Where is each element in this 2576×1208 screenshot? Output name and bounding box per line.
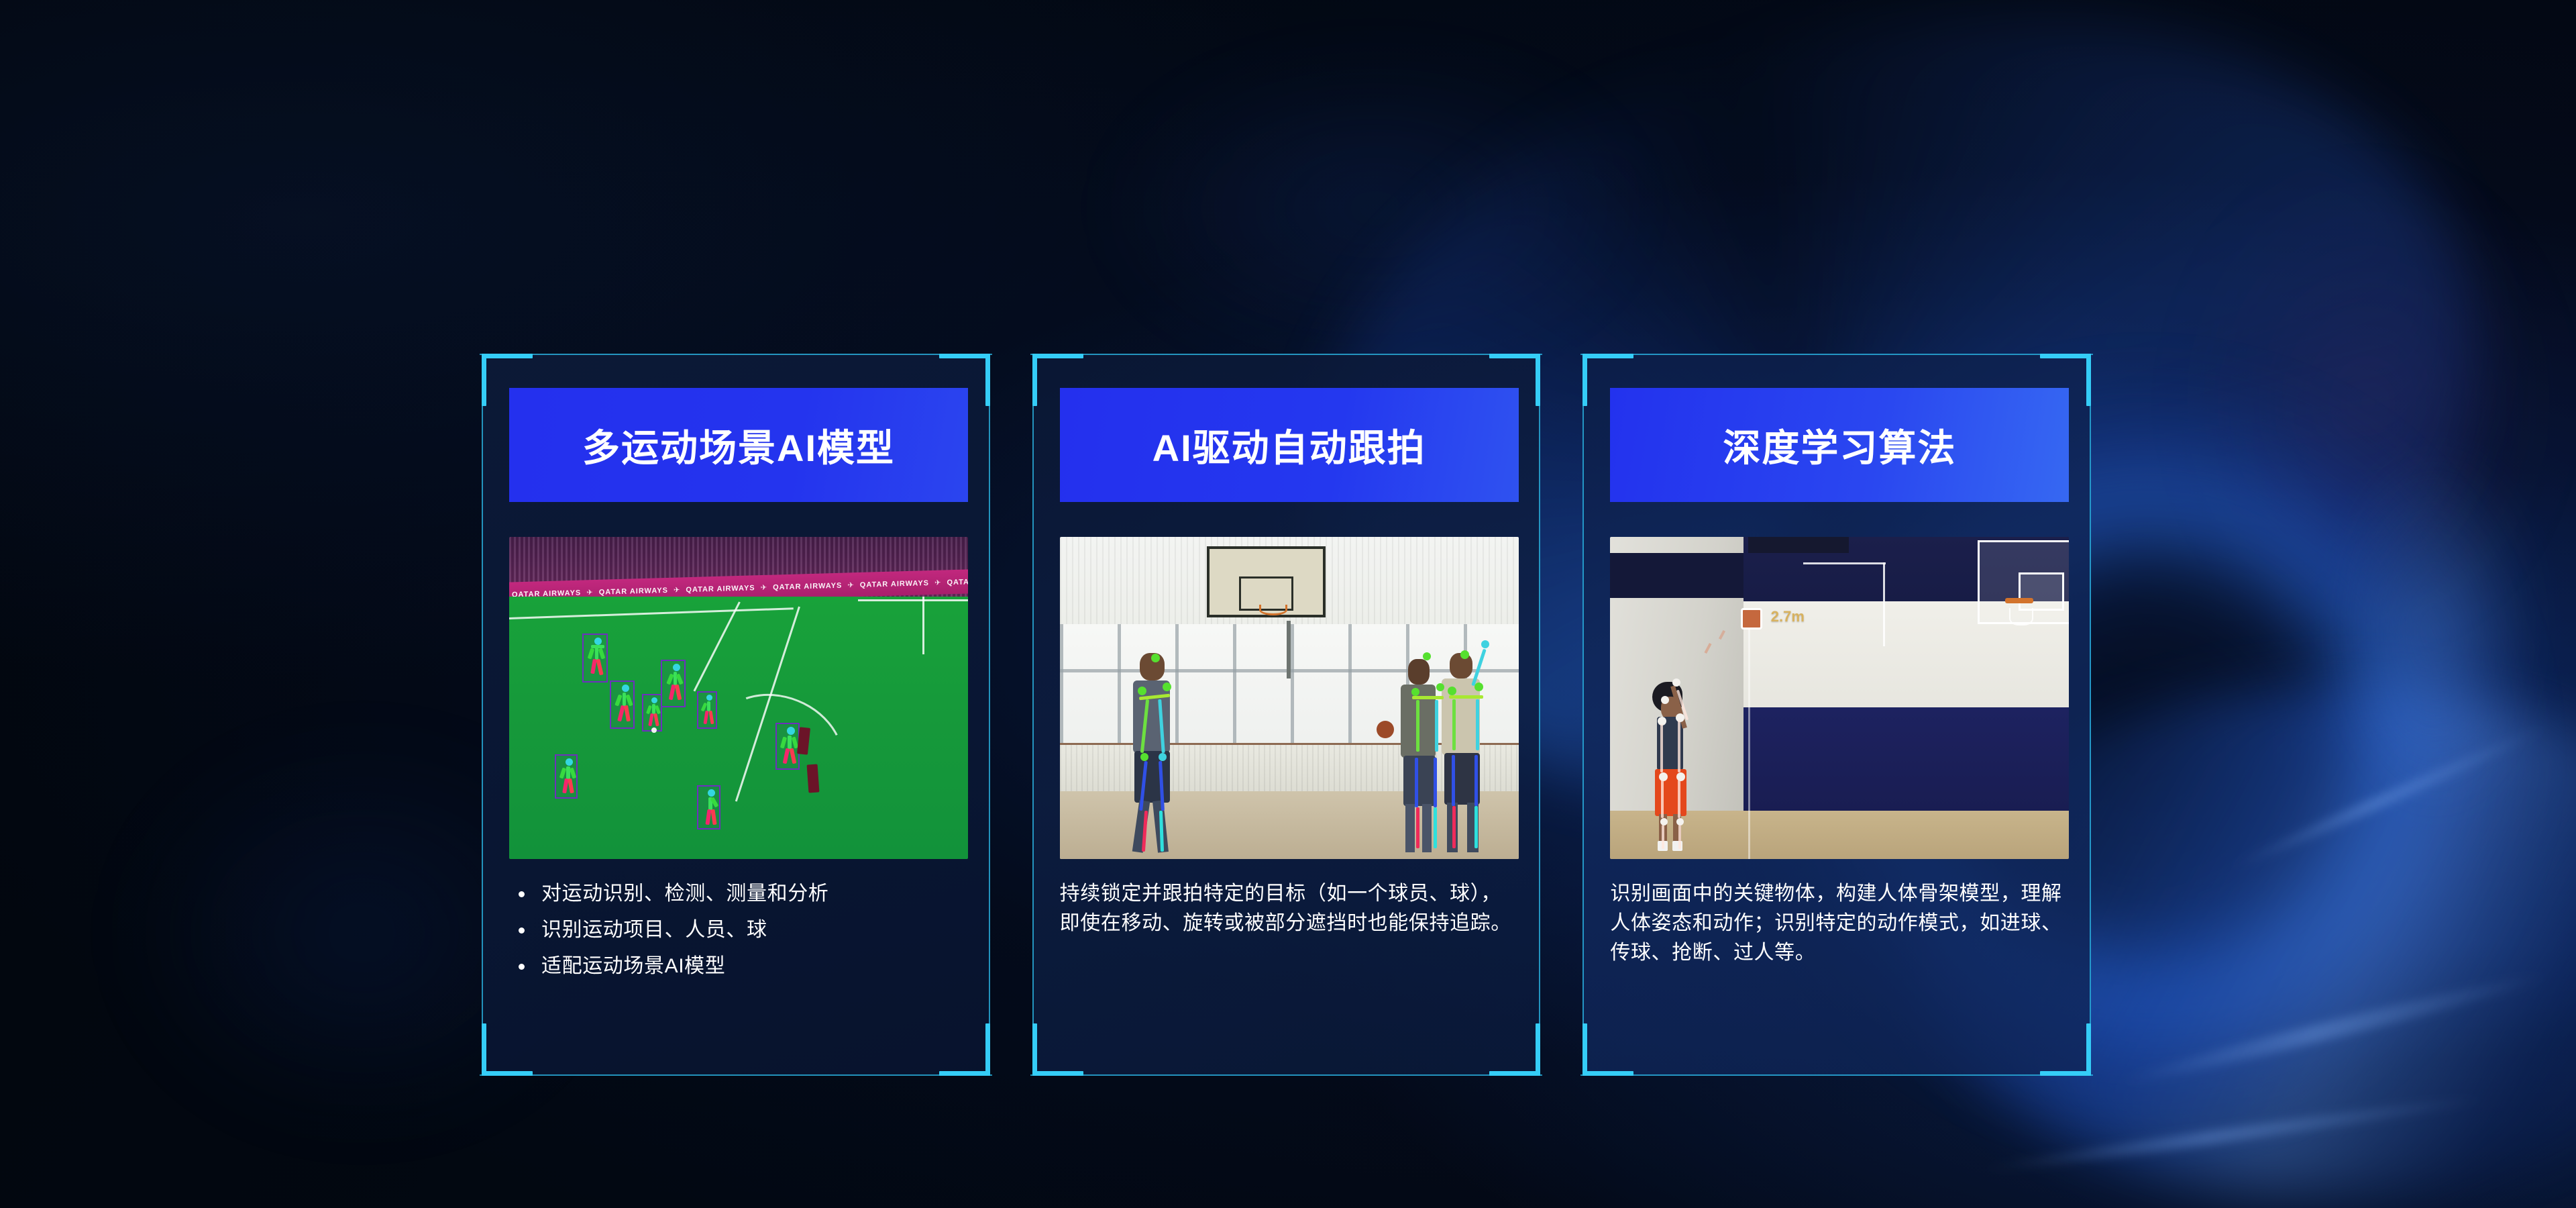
pitch-line-top [509,607,794,619]
light-streak-2 [2226,721,2550,874]
detection-box-player-6 [775,723,800,770]
pose-skeleton-5 [700,695,714,725]
card-frame-top [1580,354,2093,355]
soccer-ball [651,727,657,733]
card-frame-bottom [1030,1074,1543,1076]
card-frame-bottom [1580,1074,2093,1076]
pose-skeleton-shooter [1647,678,1702,852]
card-frame-top [1030,354,1543,355]
feature-card-list: 多运动场景AI模型 QATAR AIRWAYS ✈ QATAR AIRWAYS … [480,349,2093,1080]
measure-line-vertical [1883,562,1885,646]
bullet-list: 对运动识别、检测、测量和分析 识别运动项目、人员、球 适配运动场景AI模型 [509,879,965,981]
card-thumbnail-gym[interactable] [1060,537,1519,859]
card-title-banner: AI驱动自动跟拍 [1060,388,1519,502]
feature-card-sports-ai-model[interactable]: 多运动场景AI模型 QATAR AIRWAYS ✈ QATAR AIRWAYS … [480,349,992,1080]
card-frame-top [480,354,992,355]
hoop-pole [1287,621,1291,678]
card-paragraph: 识别画面中的关键物体，构建人体骨架模型，理解人体姿态和动作；识别特定的动作模式，… [1610,879,2066,968]
feature-card-deep-learning[interactable]: 深度学习算法 [1580,349,2093,1080]
detection-box-player-3 [610,681,635,729]
detection-box-player-4 [642,694,662,732]
light-streak-3 [1980,1092,2487,1176]
pose-skeleton-1 [586,638,604,678]
court-pillar-dark-band [1610,553,1743,598]
scoreboard [1748,537,1849,553]
card-thumbnail-soccer[interactable]: QATAR AIRWAYS ✈ QATAR AIRWAYS ✈ QATAR AI… [509,537,968,859]
basketball-rim [2005,598,2033,603]
measurement-label: 2.7m [1771,608,1805,625]
bullet-item: 对运动识别、检测、测量和分析 [509,879,965,909]
soccer-pitch [509,597,968,859]
bullet-item: 适配运动场景AI模型 [509,952,965,981]
light-streak-1 [2118,967,2552,1091]
pitch-line-right [858,599,968,601]
court-wall-padding [1743,707,2070,811]
pose-skeleton-2 [665,664,682,703]
card-paragraph: 持续锁定并跟拍特定的目标（如一个球员、球），即使在移动、旋转或被部分遮挡时也能保… [1060,879,1516,938]
pose-skeleton-8 [701,789,716,825]
detection-box-player-5 [697,691,717,729]
detection-box-player-1 [582,634,608,683]
card-frame-bottom [480,1074,992,1076]
card-body-text: 识别画面中的关键物体，构建人体骨架模型，理解人体姿态和动作；识别特定的动作模式，… [1610,879,2066,968]
pose-skeleton-4 [645,697,659,728]
card-frame-left [482,354,483,1076]
card-body-text: 持续锁定并跟拍特定的目标（如一个球员、球），即使在移动、旋转或被部分遮挡时也能保… [1060,879,1516,938]
basketball-rim [1259,605,1287,615]
glow-blob-right-edge [2294,376,2576,886]
undetected-player-2 [806,764,819,793]
card-frame-right [1539,354,1540,1076]
card-body-text: 对运动识别、检测、测量和分析 识别运动项目、人员、球 适配运动场景AI模型 [509,879,965,988]
card-frame-left [1582,354,1584,1076]
ball-tracking-box [1741,608,1762,630]
backboard-square [2019,572,2064,611]
pitch-line-goalbox [922,597,924,654]
basketball [1377,721,1394,738]
detection-box-player-2 [661,660,686,707]
bullet-item: 识别运动项目、人员、球 [509,915,965,945]
pitch-line-penalty [694,601,741,691]
detection-box-player-7 [555,754,578,799]
card-frame-right [2090,354,2091,1076]
pose-skeleton-3 [614,685,631,725]
detection-box-player-8 [697,785,720,829]
card-frame-left [1032,354,1034,1076]
feature-card-ai-auto-tracking[interactable]: AI驱动自动跟拍 [1030,349,1543,1080]
card-title-banner: 多运动场景AI模型 [509,388,968,502]
basketball-net [2009,608,2033,625]
glow-blob-magenta [2133,101,2576,705]
measure-line-horizontal [1803,562,1886,564]
pose-skeleton-6 [780,727,796,766]
card-frame-right [989,354,990,1076]
slide-canvas: 多运动场景AI模型 QATAR AIRWAYS ✈ QATAR AIRWAYS … [0,0,2576,1208]
card-thumbnail-court[interactable]: 2.7m [1610,537,2069,859]
pose-skeleton-7 [559,758,574,795]
pose-skeleton-left [1124,650,1188,856]
card-title-banner: 深度学习算法 [1610,388,2069,502]
measure-line-drop [1748,614,1750,859]
pose-skeleton-right-front [1436,640,1501,853]
